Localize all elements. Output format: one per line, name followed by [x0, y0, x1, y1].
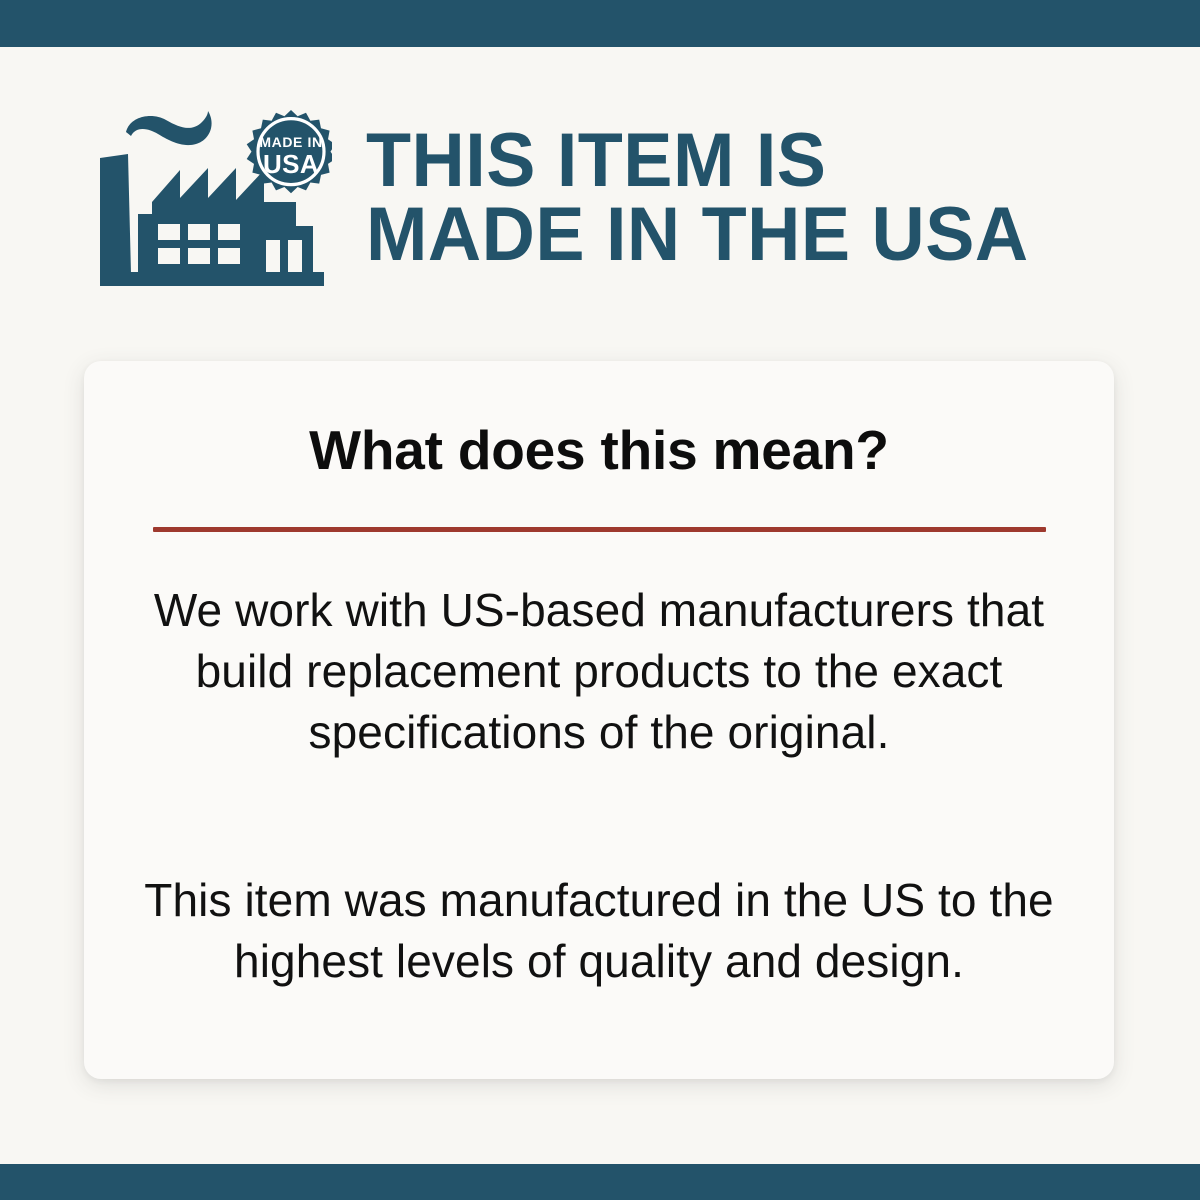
body-paragraph: We work with US-based manufacturers that…	[144, 580, 1054, 764]
top-accent-bar	[0, 0, 1200, 47]
made-in-usa-banner: MADE IN USA THIS ITEM IS MADE IN THE USA…	[0, 0, 1200, 1200]
svg-text:USA: USA	[263, 149, 319, 179]
card-body: We work with US-based manufacturers that…	[84, 580, 1114, 992]
heading-divider	[153, 527, 1046, 532]
card-heading: What does this mean?	[84, 361, 1114, 478]
bottom-accent-bar	[0, 1164, 1200, 1200]
explanation-card: What does this mean? We work with US-bas…	[84, 361, 1114, 1079]
banner-header: MADE IN USA THIS ITEM IS MADE IN THE USA	[0, 47, 1200, 347]
body-paragraph: This item was manufactured in the US to …	[144, 870, 1054, 992]
title-line-2: MADE IN THE USA	[366, 198, 1029, 272]
title-line-1: THIS ITEM IS	[366, 124, 1029, 198]
banner-title: THIS ITEM IS MADE IN THE USA	[366, 124, 1049, 273]
svg-text:MADE IN: MADE IN	[259, 134, 322, 150]
factory-made-in-usa-icon: MADE IN USA	[100, 110, 332, 290]
